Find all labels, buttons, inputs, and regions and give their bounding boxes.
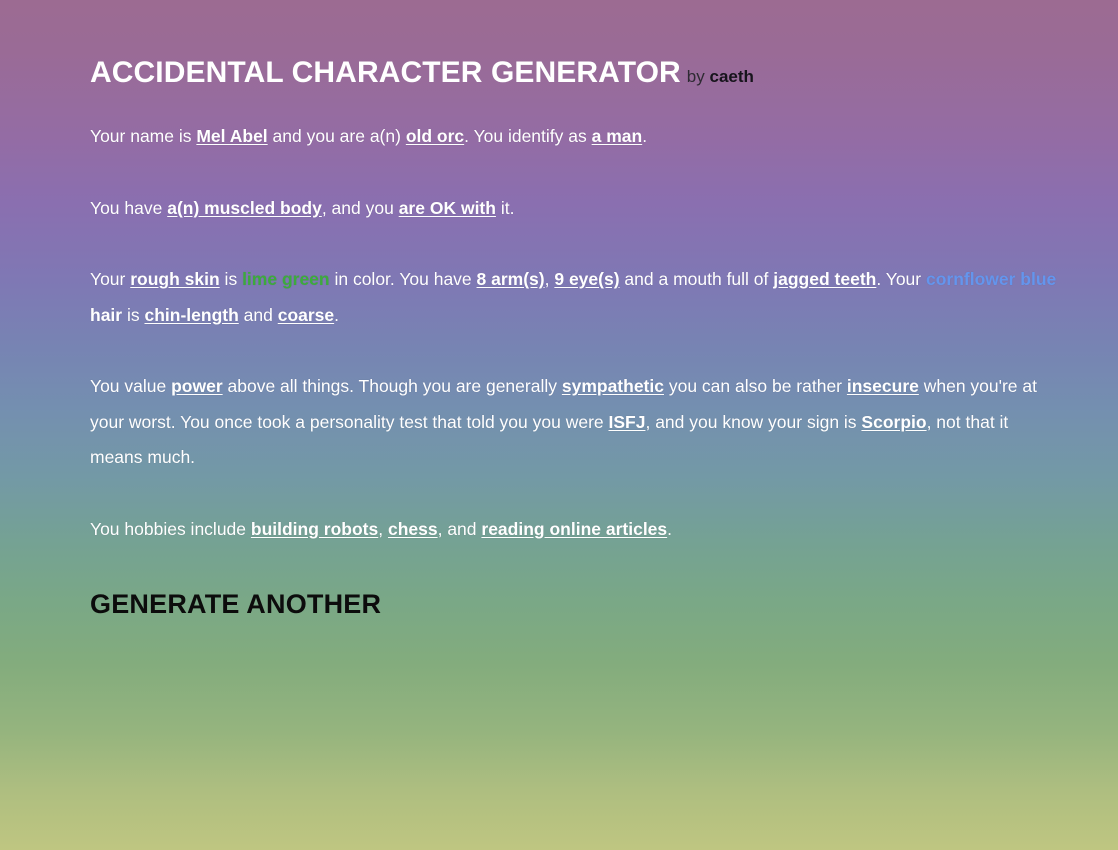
body-mid1: , and you bbox=[322, 198, 399, 218]
character-race[interactable]: old orc bbox=[406, 126, 464, 146]
byline: by caeth bbox=[687, 67, 754, 86]
identity-mid1: and you are a(n) bbox=[268, 126, 406, 146]
character-generator-page: ACCIDENTAL CHARACTER GENERATORby caeth Y… bbox=[0, 0, 1118, 850]
character-mbti-type[interactable]: ISFJ bbox=[609, 412, 646, 432]
identity-prefix: Your name is bbox=[90, 126, 196, 146]
page-title: ACCIDENTAL CHARACTER GENERATOR bbox=[90, 56, 681, 89]
appearance-suffix: . bbox=[334, 305, 339, 325]
appearance-mid2: in color. You have bbox=[330, 269, 477, 289]
identity-mid2: . You identify as bbox=[464, 126, 591, 146]
paragraph-body: You have a(n) muscled body, and you are … bbox=[90, 191, 1062, 227]
paragraph-appearance: Your rough skin is lime green in color. … bbox=[90, 262, 1062, 333]
hair-word: hair bbox=[90, 305, 122, 325]
personality-mid4: , and you know your sign is bbox=[645, 412, 861, 432]
byline-by-label: by bbox=[687, 67, 705, 86]
identity-suffix: . bbox=[642, 126, 647, 146]
body-suffix: it. bbox=[496, 198, 514, 218]
character-skin-color[interactable]: lime green bbox=[242, 269, 330, 289]
character-body-opinion[interactable]: are OK with bbox=[399, 198, 496, 218]
generate-another-button[interactable]: GENERATE ANOTHER bbox=[90, 589, 381, 620]
appearance-mid3: , bbox=[545, 269, 555, 289]
character-zodiac-sign[interactable]: Scorpio bbox=[861, 412, 926, 432]
character-negative-trait[interactable]: insecure bbox=[847, 376, 919, 396]
hobbies-mid2: , and bbox=[438, 519, 482, 539]
paragraph-personality: You value power above all things. Though… bbox=[90, 369, 1062, 476]
personality-mid1: above all things. Though you are general… bbox=[223, 376, 562, 396]
appearance-mid7: and bbox=[239, 305, 278, 325]
character-skin[interactable]: rough skin bbox=[130, 269, 219, 289]
character-name[interactable]: Mel Abel bbox=[196, 126, 267, 146]
generate-another-row: GENERATE ANOTHER bbox=[90, 589, 1062, 620]
character-eye-count[interactable]: 9 eye(s) bbox=[554, 269, 619, 289]
character-build[interactable]: a(n) muscled body bbox=[167, 198, 322, 218]
personality-prefix: You value bbox=[90, 376, 171, 396]
character-hair-texture[interactable]: coarse bbox=[278, 305, 334, 325]
character-hobby-3[interactable]: reading online articles bbox=[481, 519, 667, 539]
body-prefix: You have bbox=[90, 198, 167, 218]
appearance-mid6: is bbox=[122, 305, 144, 325]
appearance-mid4: and a mouth full of bbox=[620, 269, 774, 289]
character-hair-color[interactable]: cornflower blue bbox=[926, 269, 1056, 289]
character-arm-count[interactable]: 8 arm(s) bbox=[477, 269, 545, 289]
character-teeth[interactable]: jagged teeth bbox=[773, 269, 876, 289]
page-header: ACCIDENTAL CHARACTER GENERATORby caeth bbox=[90, 0, 1062, 89]
appearance-prefix: Your bbox=[90, 269, 130, 289]
character-core-value[interactable]: power bbox=[171, 376, 223, 396]
hobbies-prefix: You hobbies include bbox=[90, 519, 251, 539]
paragraph-identity: Your name is Mel Abel and you are a(n) o… bbox=[90, 119, 1062, 155]
character-hair-length[interactable]: chin-length bbox=[144, 305, 238, 325]
character-hobby-1[interactable]: building robots bbox=[251, 519, 378, 539]
character-positive-trait[interactable]: sympathetic bbox=[562, 376, 664, 396]
byline-author: caeth bbox=[710, 67, 754, 86]
appearance-mid1: is bbox=[220, 269, 242, 289]
paragraph-hobbies: You hobbies include building robots, che… bbox=[90, 512, 1062, 548]
character-hobby-2[interactable]: chess bbox=[388, 519, 438, 539]
hobbies-mid1: , bbox=[378, 519, 388, 539]
hobbies-suffix: . bbox=[667, 519, 672, 539]
character-gender[interactable]: a man bbox=[592, 126, 643, 146]
character-description: Your name is Mel Abel and you are a(n) o… bbox=[90, 119, 1062, 547]
appearance-mid5: . Your bbox=[876, 269, 926, 289]
personality-mid2: you can also be rather bbox=[664, 376, 847, 396]
